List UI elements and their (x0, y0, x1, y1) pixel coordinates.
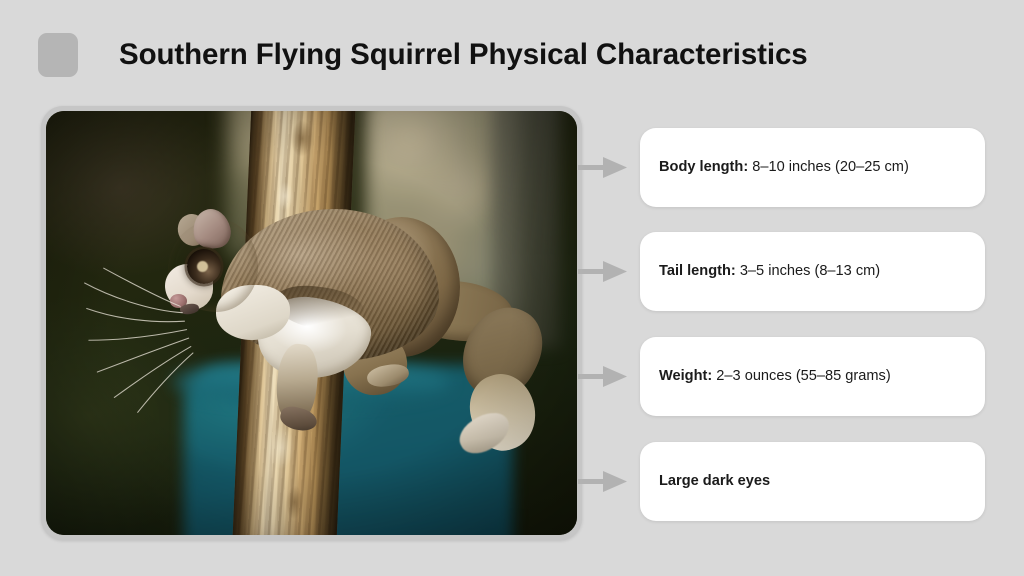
squirrel-photo-frame (41, 106, 582, 540)
title-accent-square (38, 33, 78, 77)
fact-card-body-length[interactable]: Body length: 8–10 inches (20–25 cm) (640, 128, 985, 207)
fact-label: Tail length: (659, 263, 736, 279)
photo-vignette (46, 111, 577, 535)
fact-card-list: Body length: 8–10 inches (20–25 cm) Tail… (640, 128, 985, 521)
connector-arrow-1 (578, 157, 627, 178)
fact-text: Body length: 8–10 inches (20–25 cm) (640, 158, 921, 177)
fact-card-eyes[interactable]: Large dark eyes (640, 442, 985, 521)
fact-text: Tail length: 3–5 inches (8–13 cm) (640, 262, 892, 281)
fact-card-tail-length[interactable]: Tail length: 3–5 inches (8–13 cm) (640, 232, 985, 311)
fact-text: Weight: 2–3 ounces (55–85 grams) (640, 367, 903, 386)
fact-value: 3–5 inches (8–13 cm) (740, 263, 880, 279)
connector-arrow-3 (578, 366, 627, 387)
fact-card-weight[interactable]: Weight: 2–3 ounces (55–85 grams) (640, 337, 985, 416)
slide-header: Southern Flying Squirrel Physical Charac… (0, 0, 1024, 100)
fact-label: Large dark eyes (659, 473, 770, 489)
fact-value: 2–3 ounces (55–85 grams) (716, 368, 890, 384)
page-title: Southern Flying Squirrel Physical Charac… (119, 35, 808, 75)
squirrel-photo (46, 111, 577, 535)
fact-label: Weight: (659, 368, 712, 384)
fact-value: 8–10 inches (20–25 cm) (752, 159, 909, 175)
fact-label: Body length: (659, 159, 748, 175)
connector-arrow-2 (578, 261, 627, 282)
fact-text: Large dark eyes (640, 472, 782, 491)
connector-arrows (578, 0, 642, 576)
connector-arrow-4 (578, 471, 627, 492)
